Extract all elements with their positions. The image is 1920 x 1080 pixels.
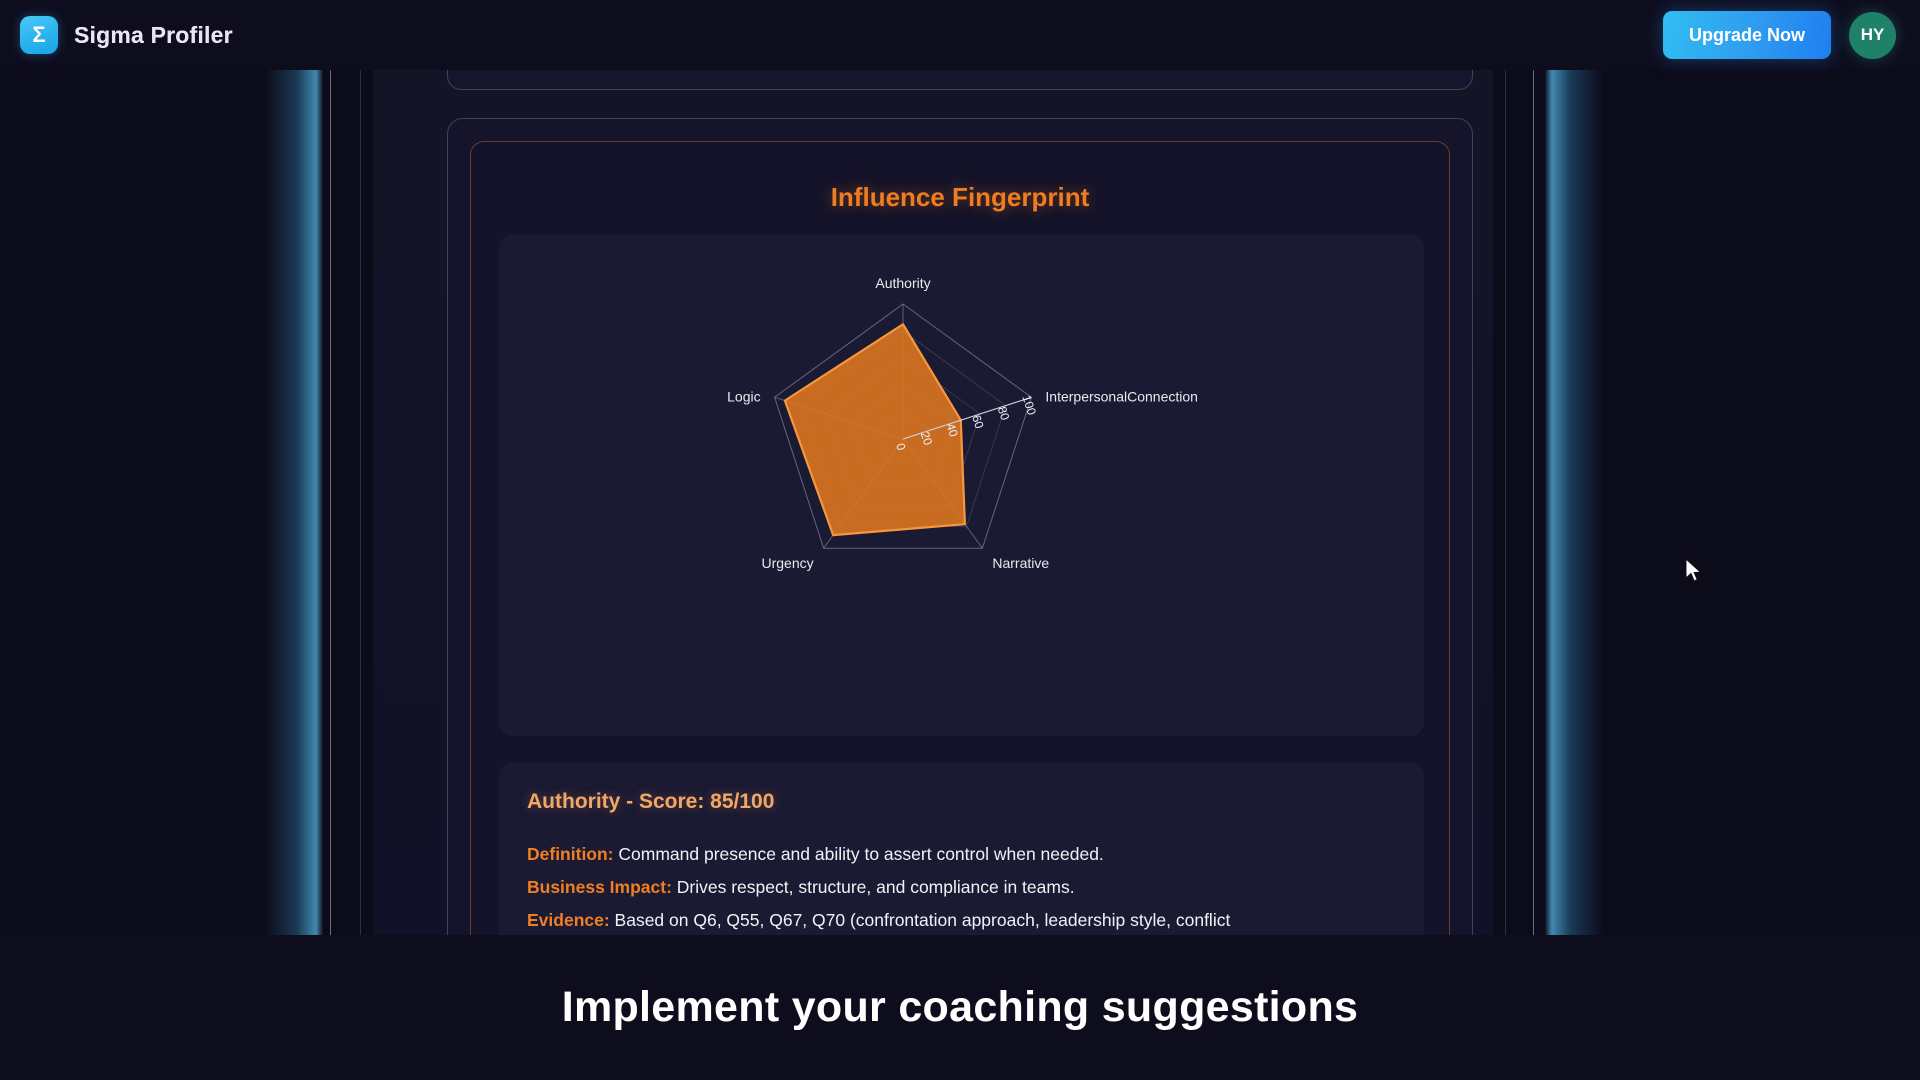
- header-actions: Upgrade Now HY: [1663, 11, 1920, 59]
- radar-axis-label-interpersonalconnection: InterpersonalConnection: [1045, 388, 1198, 404]
- radar-chart-panel[interactable]: 020406080100AuthorityInterpersonalConnec…: [499, 234, 1424, 736]
- right-glow-strip: [1545, 70, 1603, 935]
- trait-score-heading: Authority - Score: 85/100: [527, 790, 1396, 814]
- upgrade-now-button[interactable]: Upgrade Now: [1663, 11, 1831, 59]
- radar-axis-label-authority: Authority: [875, 275, 930, 291]
- radial-tick-60: 60: [969, 413, 987, 430]
- radar-axis-label-logic: Logic: [727, 388, 760, 404]
- detail-label-business-impact: Business Impact:: [527, 877, 672, 897]
- influence-fingerprint-card: Influence Fingerprint 020406080100Author…: [447, 118, 1473, 935]
- right-rule-outer: [1505, 70, 1506, 935]
- left-rule-inner: [330, 70, 331, 935]
- radar-axis-label-narrative: Narrative: [992, 555, 1049, 571]
- detail-row-business-impact: Business Impact: Drives respect, structu…: [527, 871, 1396, 904]
- radial-tick-80: 80: [995, 405, 1013, 422]
- right-rule-inner: [1533, 70, 1534, 935]
- left-glow-strip: [265, 70, 323, 935]
- detail-text-evidence: Based on Q6, Q55, Q67, Q70 (confrontatio…: [610, 910, 1231, 930]
- user-avatar[interactable]: HY: [1849, 12, 1896, 59]
- detail-text-business-impact: Drives respect, structure, and complianc…: [672, 877, 1075, 897]
- sigma-logo-icon: Σ: [20, 16, 58, 54]
- radar-axis-label-urgency: Urgency: [762, 555, 814, 571]
- app-root: Σ Sigma Profiler Upgrade Now HY Influenc…: [0, 0, 1920, 1080]
- left-rule-outer: [360, 70, 361, 935]
- brand-name: Sigma Profiler: [74, 22, 233, 49]
- trait-detail-panel: Authority - Score: 85/100 Definition: Co…: [499, 762, 1424, 935]
- previous-section-card: [447, 70, 1473, 90]
- page-title: Influence Fingerprint: [471, 182, 1449, 213]
- radial-tick-100: 100: [1019, 393, 1039, 417]
- detail-row-evidence: Evidence: Based on Q6, Q55, Q67, Q70 (co…: [527, 904, 1396, 935]
- detail-label-evidence: Evidence:: [527, 910, 610, 930]
- detail-text-definition: Command presence and ability to assert c…: [614, 844, 1104, 864]
- app-header: Σ Sigma Profiler Upgrade Now HY: [0, 0, 1920, 70]
- detail-label-definition: Definition:: [527, 844, 614, 864]
- caption-text: Implement your coaching suggestions: [562, 983, 1359, 1032]
- influence-fingerprint-inner: Influence Fingerprint 020406080100Author…: [470, 141, 1450, 935]
- brand[interactable]: Σ Sigma Profiler: [0, 16, 233, 54]
- detail-row-definition: Definition: Command presence and ability…: [527, 838, 1396, 871]
- caption-bar: Implement your coaching suggestions: [0, 935, 1920, 1080]
- influence-radar-chart[interactable]: 020406080100AuthorityInterpersonalConnec…: [499, 234, 1424, 736]
- content-viewport[interactable]: Influence Fingerprint 020406080100Author…: [0, 70, 1920, 935]
